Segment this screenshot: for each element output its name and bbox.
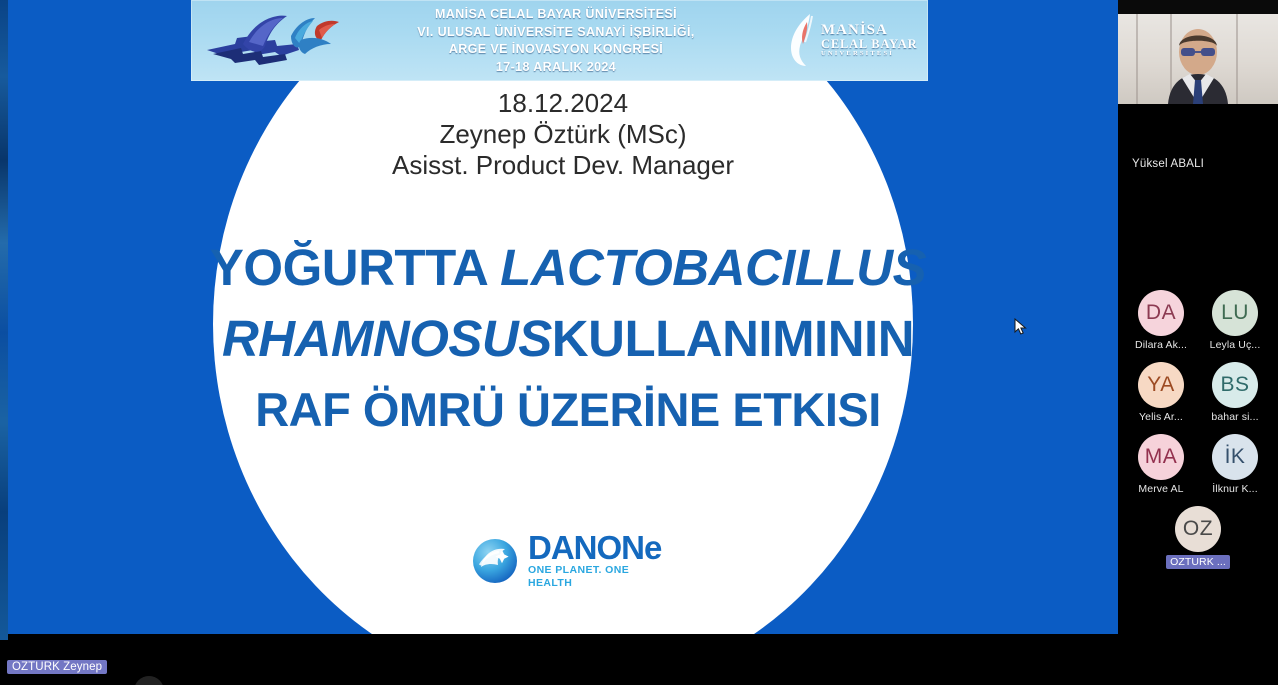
avatar: BS (1212, 362, 1258, 408)
mouse-pointer-icon (1014, 318, 1028, 336)
slide-presenter-role: Asisst. Product Dev. Manager (8, 150, 1118, 181)
gear-swoosh-icon (201, 10, 341, 72)
shared-screen-slide[interactable]: MANİSA CELAL BAYAR ÜNİVERSİTESİ VI. ULUS… (8, 0, 1118, 634)
participant-tile[interactable]: OZ OZTURK ... (1167, 506, 1229, 569)
participant-row: MA Merve AL İK İlknur K... (1118, 434, 1278, 495)
participant-tile[interactable]: DA Dilara Ak... (1130, 290, 1192, 351)
banner-line-1: MANİSA CELAL BAYAR ÜNİVERSİTESİ (341, 6, 771, 24)
sponsor-name: DANONe (528, 532, 671, 564)
participant-name: Merve AL (1138, 483, 1183, 495)
participant-name: Leyla Uç... (1210, 339, 1261, 351)
sponsor-tagline: ONE PLANET. ONE HEALTH (528, 564, 671, 590)
banner-line-4: 17-18 ARALIK 2024 (341, 59, 771, 77)
background-window-strip (0, 0, 8, 640)
university-name-line-2: CELAL BAYAR (821, 38, 917, 51)
banner-title-block: MANİSA CELAL BAYAR ÜNİVERSİTESİ VI. ULUS… (341, 6, 771, 76)
participant-tile[interactable]: MA Merve AL (1130, 434, 1192, 495)
participant-row: YA Yelis Ar... BS bahar si... (1118, 362, 1278, 423)
participant-grid: DA Dilara Ak... LU Leyla Uç... YA Yelis … (1118, 290, 1278, 580)
title-line-2-italic: RHAMNOSUS (222, 310, 552, 367)
participants-sidebar[interactable]: Yüksel ABALI DA Dilara Ak... LU Leyla Uç… (1118, 0, 1278, 685)
banner-line-2: VI. ULUSAL ÜNİVERSİTE SANAYİ İŞBİRLİĞİ, (341, 24, 771, 42)
participant-tile[interactable]: LU Leyla Uç... (1204, 290, 1266, 351)
university-logo: MANİSA CELAL BAYAR ÜNİVERSİTESİ (788, 8, 918, 72)
slide-meta-block: 18.12.2024 Zeynep Öztürk (MSc) Asisst. P… (8, 88, 1118, 181)
university-name-line-3: ÜNİVERSİTESİ (821, 51, 917, 58)
self-name-label: OZTURK Zeynep (7, 660, 107, 674)
banner-line-3: ARGE VE İNOVASYON KONGRESİ (341, 41, 771, 59)
avatar: MA (1138, 434, 1184, 480)
title-line-3: RAF ÖMRÜ ÜZERİNE ETKISI (255, 383, 881, 436)
slide-title: YOĞURTTA LACTOBACILLUS RHAMNOSUSKULLANIM… (198, 232, 938, 445)
participant-name: Dilara Ak... (1135, 339, 1187, 351)
flame-icon (788, 12, 816, 68)
slide-presenter-name: Zeynep Öztürk (MSc) (8, 119, 1118, 150)
meeting-screen: MANİSA CELAL BAYAR ÜNİVERSİTESİ VI. ULUS… (0, 0, 1278, 685)
participant-tile[interactable]: İK İlknur K... (1204, 434, 1266, 495)
avatar: İK (1212, 434, 1258, 480)
participant-name: Yelis Ar... (1139, 411, 1183, 423)
title-line-1-plain: YOĞURTTA (210, 239, 500, 296)
active-speaker-video-tile[interactable] (1118, 0, 1278, 118)
participant-row: DA Dilara Ak... LU Leyla Uç... (1118, 290, 1278, 351)
slide-date: 18.12.2024 (8, 88, 1118, 119)
title-line-1-italic: LACTOBACILLUS (500, 239, 926, 296)
avatar: OZ (1175, 506, 1221, 552)
active-speaker-name: Yüksel ABALI (1132, 158, 1204, 170)
participant-name: İlknur K... (1212, 483, 1257, 495)
participant-row: OZ OZTURK ... (1118, 506, 1278, 569)
participant-name: bahar si... (1211, 411, 1258, 423)
danone-globe-icon (471, 537, 519, 585)
participant-name: OZTURK ... (1166, 555, 1230, 569)
participant-tile[interactable]: BS bahar si... (1204, 362, 1266, 423)
avatar: DA (1138, 290, 1184, 336)
university-name-line-1: MANİSA (821, 23, 917, 38)
avatar: LU (1212, 290, 1258, 336)
avatar: YA (1138, 362, 1184, 408)
speaker-video-image (1154, 26, 1242, 104)
participant-tile[interactable]: YA Yelis Ar... (1130, 362, 1192, 423)
sponsor-logo: DANONe ONE PLANET. ONE HEALTH (471, 534, 671, 588)
bottom-avatar-partial (134, 676, 164, 685)
congress-banner: MANİSA CELAL BAYAR ÜNİVERSİTESİ VI. ULUS… (191, 0, 928, 81)
title-line-2-plain: KULLANIMININ (552, 310, 914, 367)
